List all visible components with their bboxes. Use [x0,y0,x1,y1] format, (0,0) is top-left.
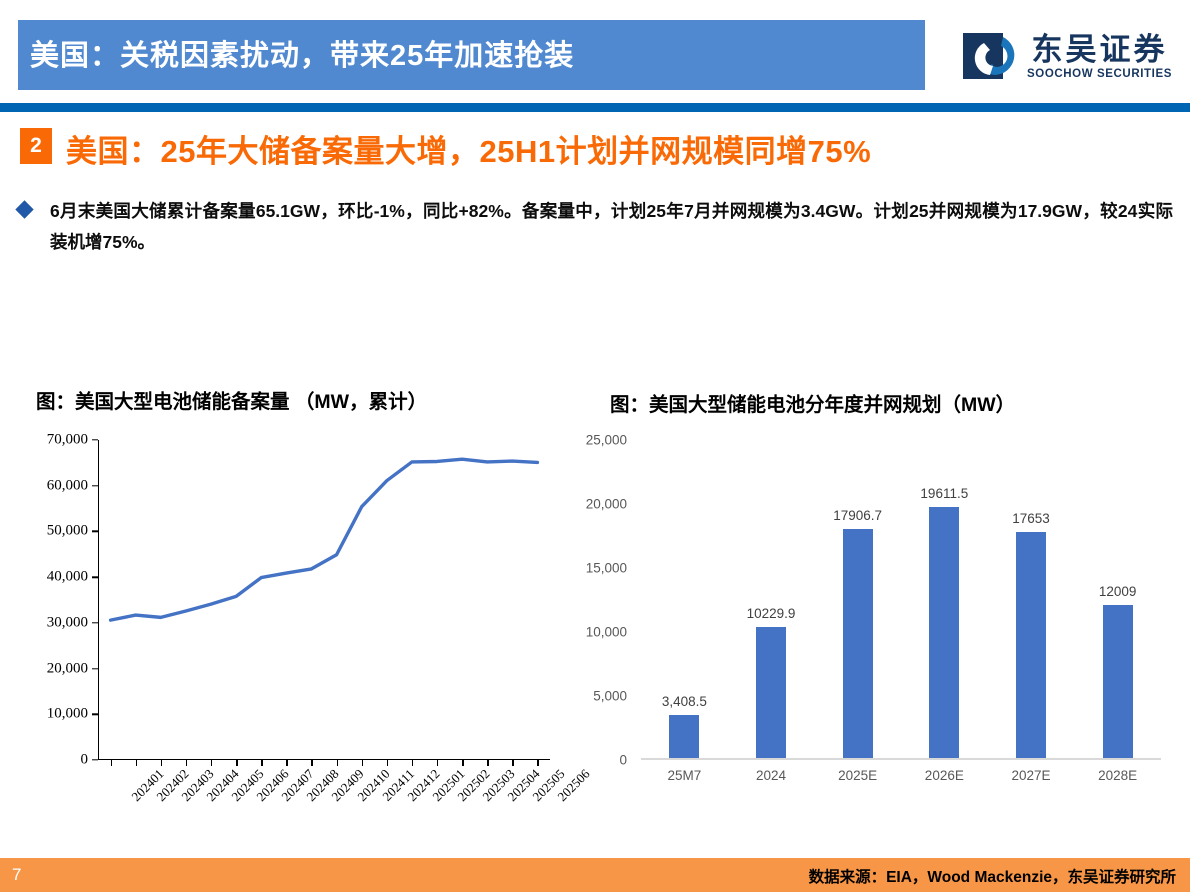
company-logo: 东吴证券 SOOCHOW SECURITIES [962,28,1172,86]
bar-chart-x-tick-label: 2028E [1098,768,1137,783]
source-note: 数据来源：EIA，Wood Mackenzie，东吴证券研究所 [809,865,1176,887]
bar-chart-bar-group: 12009 [1103,584,1133,759]
line-chart-y-tick-label: 30,000 [47,614,88,631]
bullet-block: 6月末美国大储累计备案量65.1GW，环比-1%，同比+82%。备案量中，计划2… [18,196,1173,257]
bar-chart-bar [756,627,786,758]
footer-bar: 7 数据来源：EIA，Wood Mackenzie，东吴证券研究所 [0,858,1190,892]
bar-value-label: 10229.9 [747,606,796,621]
bar-chart-bar-group: 19611.5 [929,486,959,758]
bar-chart-x-tick-label: 2026E [925,768,964,783]
logo-name-cn: 东吴证券 [1032,34,1168,65]
bar-chart-y-tick-label: 10,000 [586,625,627,640]
bar-chart-y-tick-label: 20,000 [586,497,627,512]
section-number-badge: 2 [20,128,52,164]
line-chart-plot [98,440,550,760]
bar-chart-bar-group: 17906.7 [843,508,873,758]
line-chart-y-tick-label: 70,000 [47,432,88,449]
logo-name-en: SOOCHOW SECURITIES [1027,69,1172,81]
bar-chart-y-tick-label: 0 [619,753,627,768]
bar-value-label: 12009 [1099,584,1137,599]
bar-chart-bar-group: 10229.9 [756,606,786,758]
line-chart-y-tick-label: 10,000 [47,706,88,723]
line-chart-y-tick-label: 40,000 [47,569,88,586]
line-chart-y-tick-label: 60,000 [47,477,88,494]
bar-chart-y-axis: 05,00010,00015,00020,00025,000 [555,440,633,760]
bar-value-label: 17653 [1012,511,1050,526]
bar-chart-x-tick-label: 25M7 [667,768,701,783]
bar-chart-baseline [641,758,1161,760]
bar-chart-bar-group: 3,408.5 [669,694,699,759]
bar-chart-bar [1103,605,1133,759]
bar-chart-bar [929,507,959,758]
bar-chart-bar [843,529,873,758]
line-chart-x-labels: 2024012024022024032024042024052024062024… [98,762,550,842]
right-chart-title: 图：美国大型储能电池分年度并网规划（MW） [610,388,1015,417]
left-chart-title: 图：美国大型电池储能备案量 （MW，累计） [36,385,427,414]
bar-chart-x-tick-label: 2025E [838,768,877,783]
bar-chart-y-tick-label: 5,000 [593,689,627,704]
slide: 美国：关税因素扰动，带来25年加速抢装 东吴证券 SOOCHOW SECURIT… [0,0,1190,892]
soochow-logo-icon [962,29,1018,85]
logo-wordmark: 东吴证券 SOOCHOW SECURITIES [1027,34,1172,81]
diamond-bullet-icon [15,200,33,218]
bar-chart-bar-group: 17653 [1016,511,1046,758]
line-chart-y-axis: 010,00020,00030,00040,00050,00060,00070,… [20,440,92,760]
bar-value-label: 17906.7 [833,508,882,523]
bar-chart-y-tick-label: 25,000 [586,433,627,448]
line-chart-series [98,440,550,760]
bar-chart-x-tick-label: 2024 [756,768,786,783]
bar-chart-bar [1016,532,1046,758]
bar-chart: 05,00010,00015,00020,00025,000 3,408.510… [555,440,1175,840]
page-title: 美国：关税因素扰动，带来25年加速抢装 [30,32,574,74]
header-divider [0,103,1190,112]
bar-chart-plot: 3,408.510229.917906.719611.51765312009 [641,440,1161,760]
line-chart-y-tick-label: 0 [81,752,89,769]
line-chart: 010,00020,00030,00040,00050,00060,00070,… [20,440,575,840]
page-number: 7 [12,865,21,885]
bar-value-label: 3,408.5 [662,694,707,709]
line-chart-y-tick-label: 20,000 [47,660,88,677]
bar-chart-x-labels: 25M720242025E2026E2027E2028E [641,768,1161,798]
line-chart-y-tick-label: 50,000 [47,523,88,540]
section-title: 美国：25年大储备案量大增，25H1计划并网规模同增75% [66,126,871,171]
bar-chart-x-tick-label: 2027E [1011,768,1050,783]
bar-chart-y-tick-label: 15,000 [586,561,627,576]
bullet-text: 6月末美国大储累计备案量65.1GW，环比-1%，同比+82%。备案量中，计划2… [50,196,1173,257]
bar-value-label: 19611.5 [920,486,968,501]
bar-chart-bar [669,715,699,759]
